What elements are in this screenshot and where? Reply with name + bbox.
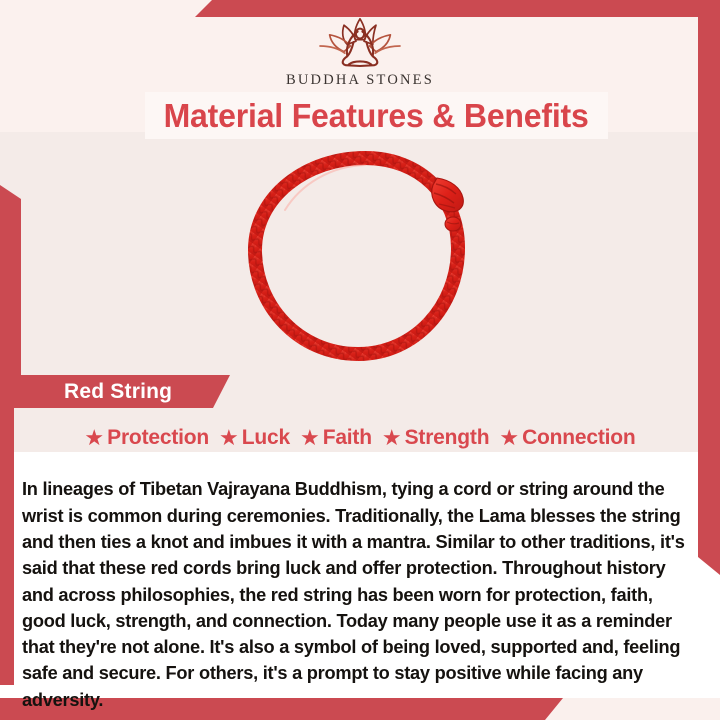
benefit-label: Luck [242,426,290,450]
brand-logo: BUDDHA STONES [0,14,720,89]
product-image [0,140,720,390]
benefit-label: Faith [323,426,372,450]
product-description: In lineages of Tibetan Vajrayana Buddhis… [22,476,687,713]
benefit-label: Strength [405,426,490,450]
benefit-item: ★ Strength [382,426,489,450]
benefit-item: ★ Protection [84,426,209,450]
brand-wordmark: BUDDHA STONES [0,72,720,89]
star-icon: ★ [300,427,320,449]
benefits-list: ★ Protection ★ Luck ★ Faith ★ Strength ★… [0,421,720,454]
benefit-label: Protection [107,426,209,450]
benefit-item: ★ Luck [219,426,290,450]
star-icon: ★ [84,427,104,449]
star-icon: ★ [219,427,239,449]
title-banner: Material Features & Benefits [145,92,608,139]
star-icon: ★ [499,427,519,449]
benefit-label: Connection [522,426,636,450]
lotus-meditation-icon [312,14,408,70]
benefit-item: ★ Connection [499,426,635,450]
red-string-bracelet-illustration [215,140,505,380]
infographic-page: BUDDHA STONES Material Features & Benefi… [0,0,720,720]
benefit-item: ★ Faith [300,426,372,450]
product-name-label: Red String [64,380,172,404]
page-title: Material Features & Benefits [164,97,589,135]
product-name-banner: Red String [14,375,230,408]
star-icon: ★ [382,427,402,449]
